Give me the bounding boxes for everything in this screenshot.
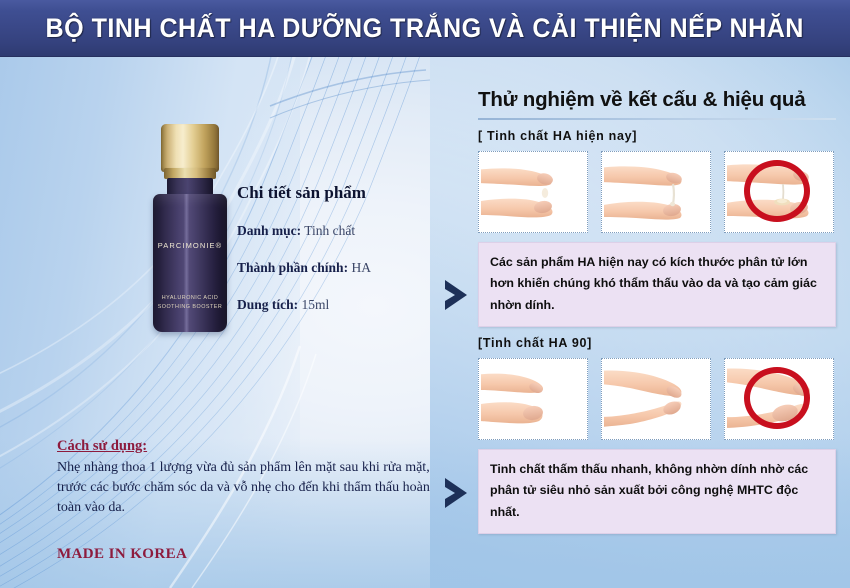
heading-divider <box>478 118 836 120</box>
photo-current-2 <box>601 151 711 233</box>
photo-row-current-ha <box>478 151 836 233</box>
photo-ha90-3 <box>724 358 834 440</box>
red-circle-highlight-1 <box>744 160 810 222</box>
chevron-right-icon-top <box>441 276 475 314</box>
product-details-heading: Chi tiết sản phẩm <box>237 183 447 203</box>
detail-row-volume: Dung tích: 15ml <box>237 297 447 313</box>
photo-ha90-1-content <box>481 361 585 437</box>
detail-value-volume: 15ml <box>302 297 330 312</box>
photo-ha90-2 <box>601 358 711 440</box>
red-circle-highlight-2 <box>744 367 810 429</box>
photo-ha90-3-content <box>727 361 831 437</box>
bottle-highlight <box>184 194 189 332</box>
photo-current-3-content <box>727 154 831 230</box>
bottle-type-label: SOOTHING BOOSTER <box>153 304 227 310</box>
detail-row-category: Danh mục: Tinh chất <box>237 223 447 239</box>
bottle-brand-label: PARCIMONIE® <box>153 241 227 250</box>
texture-test-heading: Thử nghiệm về kết cấu & hiệu quả <box>478 88 836 112</box>
detail-row-ingredient: Thành phần chính: HA <box>237 260 447 276</box>
header-banner: BỘ TINH CHẤT HA DƯỠNG TRẮNG VÀ CẢI THIỆN… <box>0 0 850 57</box>
note-box-ha90: Tinh chất thấm thấu nhanh, không nhờn dí… <box>478 449 836 534</box>
chevron-right-icon-bottom <box>441 474 475 512</box>
note-box-current-ha: Các sản phẩm HA hiện nay có kích thước p… <box>478 242 836 327</box>
product-bottle-image: PARCIMONIE® HYALURONIC ACID SOOTHING BOO… <box>142 124 238 332</box>
photo-ha90-1 <box>478 358 588 440</box>
bottle-ingredient-label: HYALURONIC ACID <box>153 295 227 301</box>
section-label-current-ha: [ Tinh chất HA hiện nay] <box>478 129 836 143</box>
photo-current-3 <box>724 151 834 233</box>
product-details: Chi tiết sản phẩm Danh mục: Tinh chất Th… <box>237 183 447 334</box>
photo-current-1-content <box>481 154 585 230</box>
texture-test-panel: Thử nghiệm về kết cấu & hiệu quả [ Tinh … <box>478 88 836 534</box>
origin-label: MADE IN KOREA <box>57 546 187 563</box>
bottle-body: PARCIMONIE® HYALURONIC ACID SOOTHING BOO… <box>153 194 227 332</box>
usage-instructions: Cách sử dụng: Nhẹ nhàng thoa 1 lượng vừa… <box>57 438 447 518</box>
usage-body-text: Nhẹ nhàng thoa 1 lượng vừa đủ sản phẩm l… <box>57 458 447 518</box>
bottle-cap <box>161 124 219 172</box>
detail-label-category: Danh mục: <box>237 223 301 238</box>
detail-label-volume: Dung tích: <box>237 297 298 312</box>
usage-heading: Cách sử dụng: <box>57 438 447 455</box>
photo-current-1 <box>478 151 588 233</box>
poster-root: BỘ TINH CHẤT HA DƯỠNG TRẮNG VÀ CẢI THIỆN… <box>0 0 850 588</box>
photo-row-ha90 <box>478 358 836 440</box>
photo-current-2-content <box>604 154 708 230</box>
detail-label-ingredient: Thành phần chính: <box>237 260 348 275</box>
photo-ha90-2-content <box>604 361 708 437</box>
section-label-ha90: [Tinh chất HA 90] <box>478 336 836 350</box>
detail-value-ingredient: HA <box>351 260 371 275</box>
detail-value-category: Tinh chất <box>304 223 355 238</box>
page-title: BỘ TINH CHẤT HA DƯỠNG TRẮNG VÀ CẢI THIỆN… <box>46 13 804 44</box>
